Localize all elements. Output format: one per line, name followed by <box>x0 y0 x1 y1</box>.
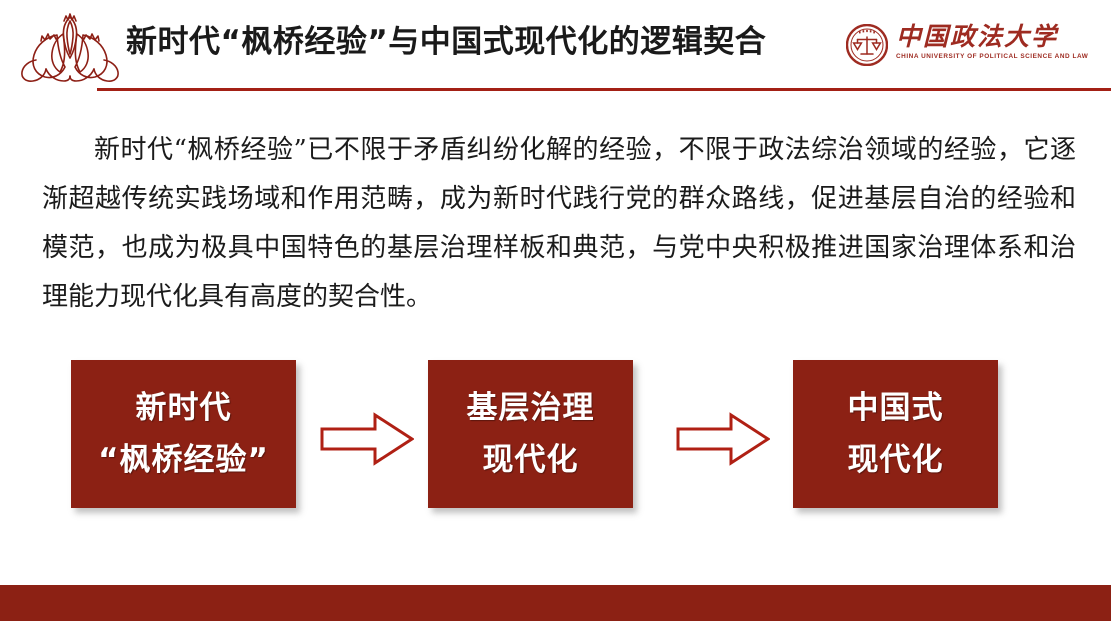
footer-bar <box>0 585 1111 621</box>
slide-canvas: 新时代“枫桥经验”与中国式现代化的逻辑契合 <box>0 0 1111 621</box>
flow-diagram: 新时代 “枫桥经验” 基层治理 现代化 中国式 现代化 <box>0 350 1111 520</box>
flow-box-1-line2: “枫桥经验” <box>98 434 269 486</box>
lotus-ornament-icon <box>16 8 124 88</box>
page-title: 新时代“枫桥经验”与中国式现代化的逻辑契合 <box>126 20 766 64</box>
flow-box-1-line1: 新时代 <box>136 382 232 434</box>
flow-box-3-line2: 现代化 <box>848 434 944 486</box>
slide-header: 新时代“枫桥经验”与中国式现代化的逻辑契合 <box>0 0 1111 100</box>
university-name-cn: 中国政法大学 <box>896 22 1048 52</box>
title-underline-rule <box>97 88 1111 91</box>
university-name-en: CHINA UNIVERSITY OF POLITICAL SCIENCE AN… <box>896 53 1048 60</box>
scales-of-justice-seal-icon <box>846 24 888 66</box>
body-paragraph: 新时代“枫桥经验”已不限于矛盾纠纷化解的经验，不限于政法综治领域的经验，它逐渐超… <box>42 126 1076 322</box>
right-arrow-icon <box>320 412 414 466</box>
flow-box-3: 中国式 现代化 <box>793 360 998 508</box>
flow-box-1: 新时代 “枫桥经验” <box>71 360 296 508</box>
university-logo: 中国政法大学 CHINA UNIVERSITY OF POLITICAL SCI… <box>846 20 1046 72</box>
flow-box-2-line2: 现代化 <box>483 434 579 486</box>
flow-box-2-line1: 基层治理 <box>467 382 595 434</box>
flow-box-3-line1: 中国式 <box>848 382 944 434</box>
flow-box-2: 基层治理 现代化 <box>428 360 633 508</box>
right-arrow-icon <box>676 412 770 466</box>
university-wordmark: 中国政法大学 CHINA UNIVERSITY OF POLITICAL SCI… <box>896 22 1048 72</box>
